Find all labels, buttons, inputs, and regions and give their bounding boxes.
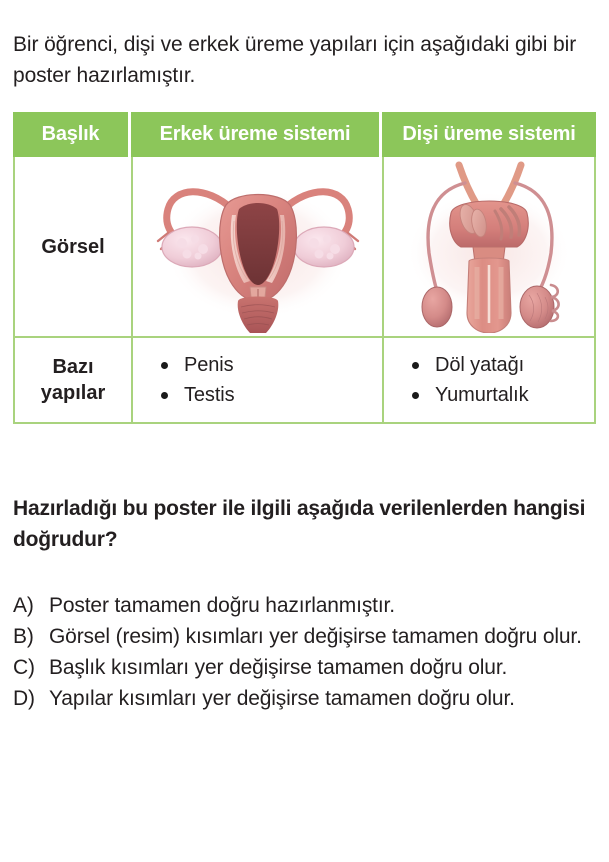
row-label-line-1: Bazı bbox=[15, 354, 131, 380]
left-ovary bbox=[162, 227, 222, 267]
table-header-row: Başlık Erkek üreme sistemi Dişi üreme si… bbox=[13, 112, 596, 157]
poster-table: Başlık Erkek üreme sistemi Dişi üreme si… bbox=[13, 112, 596, 424]
row-label-line-2: yapılar bbox=[15, 380, 131, 406]
poster-table-body: Görsel bbox=[13, 157, 596, 424]
cell-male-column-image bbox=[131, 157, 382, 338]
right-ovary bbox=[294, 227, 354, 267]
row-label-gorsel: Görsel bbox=[13, 157, 131, 338]
option-a-letter: A) bbox=[13, 590, 43, 621]
header-cell-disi-ureme-sistemi: Dişi üreme sistemi bbox=[382, 112, 596, 157]
option-c[interactable]: C) Başlık kısımları yer değişirse tamame… bbox=[13, 652, 603, 683]
option-d-text: Yapılar kısımları yer değişirse tamamen … bbox=[49, 687, 515, 710]
list-item: Penis bbox=[159, 350, 382, 380]
option-b-text: Görsel (resim) kısımları yer değişirse t… bbox=[49, 625, 582, 648]
table-row-bazi-yapilar: Bazı yapılar Penis Testis Döl yatağı Yum… bbox=[13, 338, 596, 424]
option-d-letter: D) bbox=[13, 683, 43, 714]
male-column-structure-list: Penis Testis bbox=[133, 350, 382, 410]
vagina bbox=[237, 296, 278, 333]
poster-table-head: Başlık Erkek üreme sistemi Dişi üreme si… bbox=[13, 112, 596, 157]
option-a-text: Poster tamamen doğru hazırlanmıştır. bbox=[49, 594, 395, 617]
option-b[interactable]: B) Görsel (resim) kısımları yer değişirs… bbox=[13, 621, 603, 652]
answer-options-list: A) Poster tamamen doğru hazırlanmıştır. … bbox=[13, 590, 603, 714]
female-column-structure-list: Döl yatağı Yumurtalık bbox=[384, 350, 594, 410]
header-cell-erkek-ureme-sistemi: Erkek üreme sistemi bbox=[131, 112, 382, 157]
option-b-letter: B) bbox=[13, 621, 43, 652]
intro-paragraph: Bir öğrenci, dişi ve erkek üreme yapılar… bbox=[13, 29, 597, 91]
option-a[interactable]: A) Poster tamamen doğru hazırlanmıştır. bbox=[13, 590, 603, 621]
row-label-bazi-yapilar: Bazı yapılar bbox=[13, 338, 131, 424]
female-reproductive-system-illustration bbox=[140, 161, 376, 333]
option-d[interactable]: D) Yapılar kısımları yer değişirse tamam… bbox=[13, 683, 603, 714]
cell-male-column-structures: Penis Testis bbox=[131, 338, 382, 424]
cell-female-column-image bbox=[382, 157, 596, 338]
option-c-text: Başlık kısımları yer değişirse tamamen d… bbox=[49, 656, 507, 679]
list-item: Testis bbox=[159, 380, 382, 410]
header-cell-baslik: Başlık bbox=[13, 112, 131, 157]
male-reproductive-system-illustration bbox=[389, 161, 589, 333]
question-stem: Hazırladığı bu poster ile ilgili aşağıda… bbox=[13, 493, 599, 555]
option-c-letter: C) bbox=[13, 652, 43, 683]
left-testis bbox=[422, 287, 452, 327]
list-item: Döl yatağı bbox=[410, 350, 594, 380]
cell-female-column-structures: Döl yatağı Yumurtalık bbox=[382, 338, 596, 424]
question-page: Bir öğrenci, dişi ve erkek üreme yapılar… bbox=[0, 0, 609, 862]
list-item: Yumurtalık bbox=[410, 380, 594, 410]
table-row-gorsel: Görsel bbox=[13, 157, 596, 338]
